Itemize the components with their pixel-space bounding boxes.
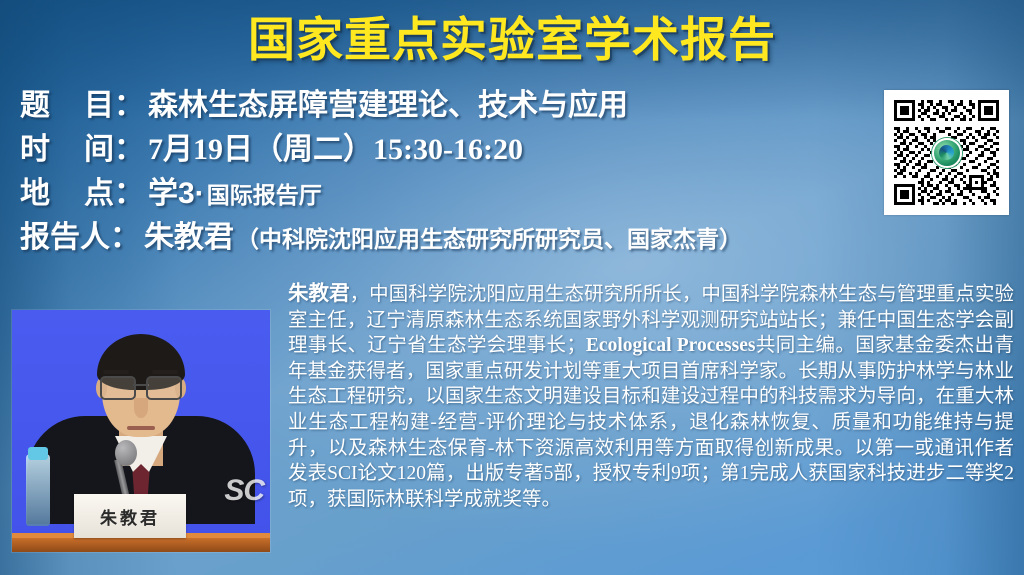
info-value-speaker-affiliation: （中科院沈阳应用生态研究所研究员、国家杰青） bbox=[236, 220, 742, 254]
glasses-lens-left bbox=[100, 376, 136, 400]
info-value-speaker: 朱教君 bbox=[144, 212, 234, 256]
logo-swirl-icon bbox=[939, 145, 954, 160]
info-value-topic: 森林生态屏障营建理论、技术与应用 bbox=[148, 80, 628, 124]
info-label-venue: 地点： bbox=[20, 168, 144, 212]
info-label-speaker: 报告人： bbox=[20, 212, 140, 256]
photo-eyeglasses-icon bbox=[100, 376, 182, 397]
qr-code[interactable] bbox=[884, 90, 1009, 215]
bio-speaker-name: 朱教君 bbox=[288, 283, 350, 305]
info-row-speaker: 报告人： 朱教君 （中科院沈阳应用生态研究所研究员、国家杰青） bbox=[20, 212, 890, 256]
photo-eyebrow-right bbox=[152, 370, 178, 374]
info-row-topic: 题目： 森林生态屏障营建理论、技术与应用 bbox=[20, 80, 890, 124]
photo-watermark: SC bbox=[224, 474, 264, 508]
desk-front bbox=[12, 538, 270, 552]
photo-mouth bbox=[127, 426, 155, 430]
speaker-bio: 朱教君，中国科学院沈阳应用生态研究所所长，中国科学院森林生态与管理重点实验室主任… bbox=[288, 282, 1014, 512]
page-title: 国家重点实验室学术报告 bbox=[248, 16, 776, 63]
info-label-topic: 题目： bbox=[20, 80, 144, 124]
photo-eyebrow-left bbox=[103, 370, 129, 374]
info-block: 题目： 森林生态屏障营建理论、技术与应用 时间： 7月19日（周二）15:30-… bbox=[20, 80, 890, 256]
poster-root: 国家重点实验室学术报告 题目： 森林生态屏障营建理论、技术与应用 时间： 7月1… bbox=[0, 0, 1024, 575]
water-bottle-cap-icon bbox=[28, 447, 48, 460]
water-bottle-icon bbox=[26, 454, 50, 526]
photo-nose bbox=[134, 398, 148, 418]
title-bar: 国家重点实验室学术报告 bbox=[0, 8, 1024, 70]
info-value-venue-hall: 国际报告厅 bbox=[207, 176, 322, 210]
info-label-time: 时间： bbox=[20, 124, 144, 168]
bio-part-two: 共同主编。国家基金委杰出青年基金获得者，国家重点研发计划等重大项目首席科学家。长… bbox=[288, 335, 1014, 510]
qr-code-canvas bbox=[891, 97, 1002, 208]
nameplate: 朱教君 bbox=[74, 494, 186, 538]
nameplate-text: 朱教君 bbox=[100, 504, 160, 529]
info-row-time: 时间： 7月19日（周二）15:30-16:20 bbox=[20, 124, 890, 168]
microphone-head-icon bbox=[115, 440, 137, 466]
info-row-venue: 地点： 学3· 国际报告厅 bbox=[20, 168, 890, 212]
speaker-photo: 朱教君 SC bbox=[12, 310, 270, 552]
bio-journal-name: Ecological Processes bbox=[586, 335, 756, 356]
info-value-venue: 学3· bbox=[148, 168, 205, 212]
info-value-time: 7月19日（周二）15:30-16:20 bbox=[148, 124, 523, 168]
qr-center-logo-icon bbox=[932, 138, 962, 168]
glasses-lens-right bbox=[146, 376, 182, 400]
